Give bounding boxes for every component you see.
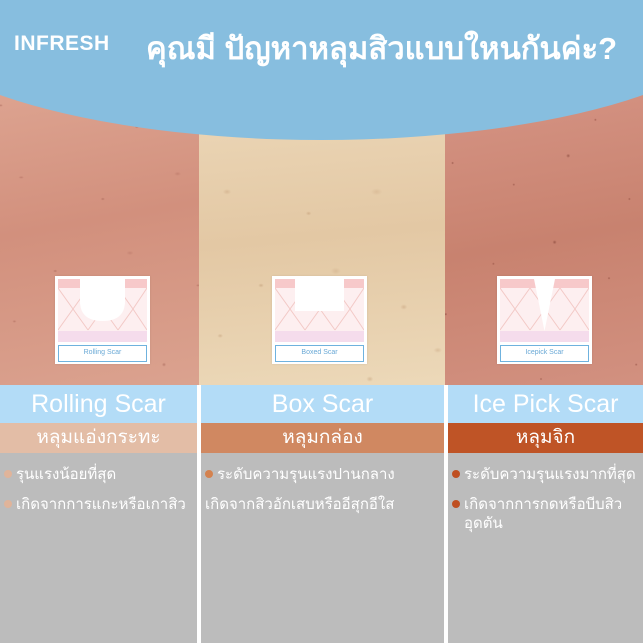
box-scar-shape-icon xyxy=(275,279,364,342)
column-title-en-rolling: Rolling Scar xyxy=(0,385,197,423)
column-title-en-icepick: Ice Pick Scar xyxy=(448,385,643,423)
list-item: เกิดจากการแกะหรือเกาสิว xyxy=(4,495,193,514)
scar-diagram-rolling: Rolling Scar xyxy=(55,276,150,364)
bullet-dot-icon xyxy=(4,500,12,508)
list-item: เกิดจากสิวอักเสบหรืออีสุกอีใส xyxy=(205,495,440,514)
column-body-icepick: ระดับความรุนแรงมากที่สุด เกิดจากการกดหรื… xyxy=(448,453,643,643)
brand-logo: INFRESH xyxy=(14,32,110,56)
bullet-dot-icon xyxy=(4,470,12,478)
bullet-text: รุนแรงน้อยที่สุด xyxy=(16,465,193,484)
infographic-root: Rolling Scar Boxed Scar xyxy=(0,0,643,643)
bullet-dot-icon xyxy=(452,500,460,508)
list-item: ระดับความรุนแรงปานกลาง xyxy=(205,465,440,484)
scar-diagram-label-box: Boxed Scar xyxy=(275,345,364,362)
scar-diagram-label-icepick: Icepick Scar xyxy=(500,345,589,362)
header-bar: INFRESH คุณมี ปัญหาหลุมสิวแบบใหนกันค่ะ? xyxy=(0,0,643,90)
scar-diagram-label-rolling: Rolling Scar xyxy=(58,345,147,362)
scar-cross-section-rolling xyxy=(58,279,147,342)
column-title-th-box: หลุมกล่อง xyxy=(201,423,444,453)
scar-diagram-box: Boxed Scar xyxy=(272,276,367,364)
column-divider xyxy=(444,385,448,643)
list-item: เกิดจากการกดหรือบีบสิวอุดตัน xyxy=(452,495,639,533)
bullet-dot-icon xyxy=(452,470,460,478)
column-box-scar: Box Scar หลุมกล่อง ระดับความรุนแรงปานกลา… xyxy=(201,385,444,643)
bullet-dot-icon xyxy=(205,470,213,478)
list-item: ระดับความรุนแรงมากที่สุด xyxy=(452,465,639,484)
bullet-text: ระดับความรุนแรงปานกลาง xyxy=(217,465,440,484)
icepick-scar-shape-icon xyxy=(500,279,589,342)
scar-diagram-icepick: Icepick Scar xyxy=(497,276,592,364)
column-title-en-box: Box Scar xyxy=(201,385,444,423)
bullet-text: เกิดจากสิวอักเสบหรืออีสุกอีใส xyxy=(205,495,440,514)
bullet-text: เกิดจากการแกะหรือเกาสิว xyxy=(16,495,193,514)
column-divider xyxy=(197,385,201,643)
rolling-scar-shape-icon xyxy=(58,279,147,342)
page-title: คุณมี ปัญหาหลุมสิวแบบใหนกันค่ะ? xyxy=(146,23,617,73)
column-title-th-icepick: หลุมจิก xyxy=(448,423,643,453)
scar-cross-section-box xyxy=(275,279,364,342)
bullet-text: เกิดจากการกดหรือบีบสิวอุดตัน xyxy=(464,495,639,533)
column-ice-pick-scar: Ice Pick Scar หลุมจิก ระดับความรุนแรงมาก… xyxy=(448,385,643,643)
bullet-text: ระดับความรุนแรงมากที่สุด xyxy=(464,465,639,484)
scar-cross-section-icepick xyxy=(500,279,589,342)
column-body-box: ระดับความรุนแรงปานกลาง เกิดจากสิวอักเสบห… xyxy=(201,453,444,643)
list-item: รุนแรงน้อยที่สุด xyxy=(4,465,193,484)
column-rolling-scar: Rolling Scar หลุมแอ่งกระทะ รุนแรงน้อยที่… xyxy=(0,385,197,643)
column-title-th-rolling: หลุมแอ่งกระทะ xyxy=(0,423,197,453)
column-body-rolling: รุนแรงน้อยที่สุด เกิดจากการแกะหรือเกาสิว xyxy=(0,453,197,643)
